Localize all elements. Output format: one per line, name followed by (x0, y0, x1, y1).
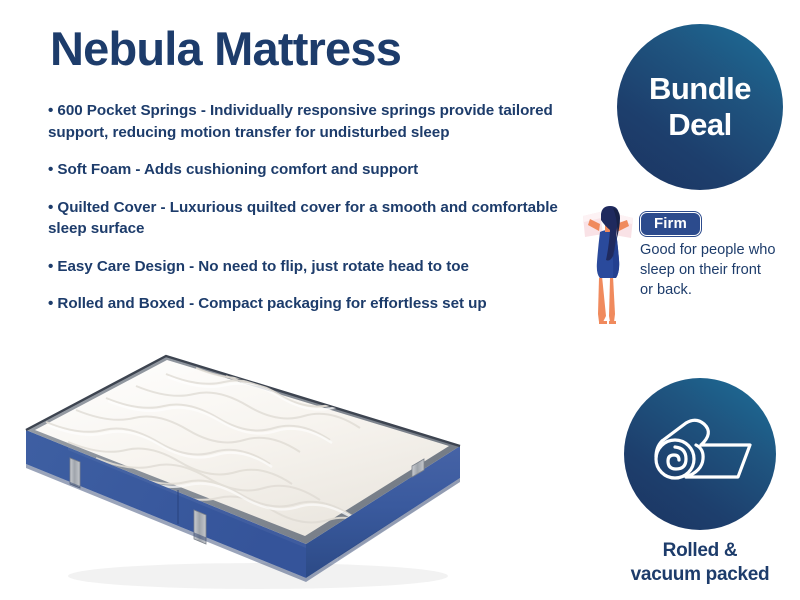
firmness-description: Good for people who sleep on their front… (640, 240, 800, 300)
rolled-mattress-icon (646, 415, 754, 493)
page-title: Nebula Mattress (50, 22, 401, 76)
bundle-deal-label-line2: Deal (668, 107, 731, 143)
product-feature-graphic: Nebula Mattress • 600 Pocket Springs - I… (0, 0, 800, 600)
firmness-description-line3: or back. (640, 280, 800, 300)
list-item: • 600 Pocket Springs - Individually resp… (48, 100, 593, 143)
firmness-info: Firm Good for people who sleep on their … (580, 204, 798, 328)
firmness-description-line1: Good for people who (640, 240, 800, 260)
rolled-caption-line1: Rolled & (600, 539, 800, 563)
firmness-description-line2: sleep on their front (640, 260, 800, 280)
standing-person-with-pillows-icon (580, 204, 636, 324)
bundle-deal-label-line1: Bundle (649, 71, 751, 107)
list-item: • Quilted Cover - Luxurious quilted cove… (48, 197, 593, 240)
mattress-product-photo (8, 338, 478, 600)
list-item: • Rolled and Boxed - Compact packaging f… (48, 293, 593, 315)
feature-list: • 600 Pocket Springs - Individually resp… (48, 100, 593, 315)
rolled-caption: Rolled & vacuum packed (600, 539, 800, 586)
bundle-deal-badge: Bundle Deal (617, 24, 783, 190)
rolled-vacuum-packed-info: Rolled & vacuum packed (600, 378, 800, 586)
rolled-caption-line2: vacuum packed (600, 563, 800, 587)
firmness-level-badge: Firm (640, 212, 701, 236)
list-item: • Easy Care Design - No need to flip, ju… (48, 256, 593, 278)
rolled-badge-circle (624, 378, 776, 530)
list-item: • Soft Foam - Adds cushioning comfort an… (48, 159, 593, 181)
